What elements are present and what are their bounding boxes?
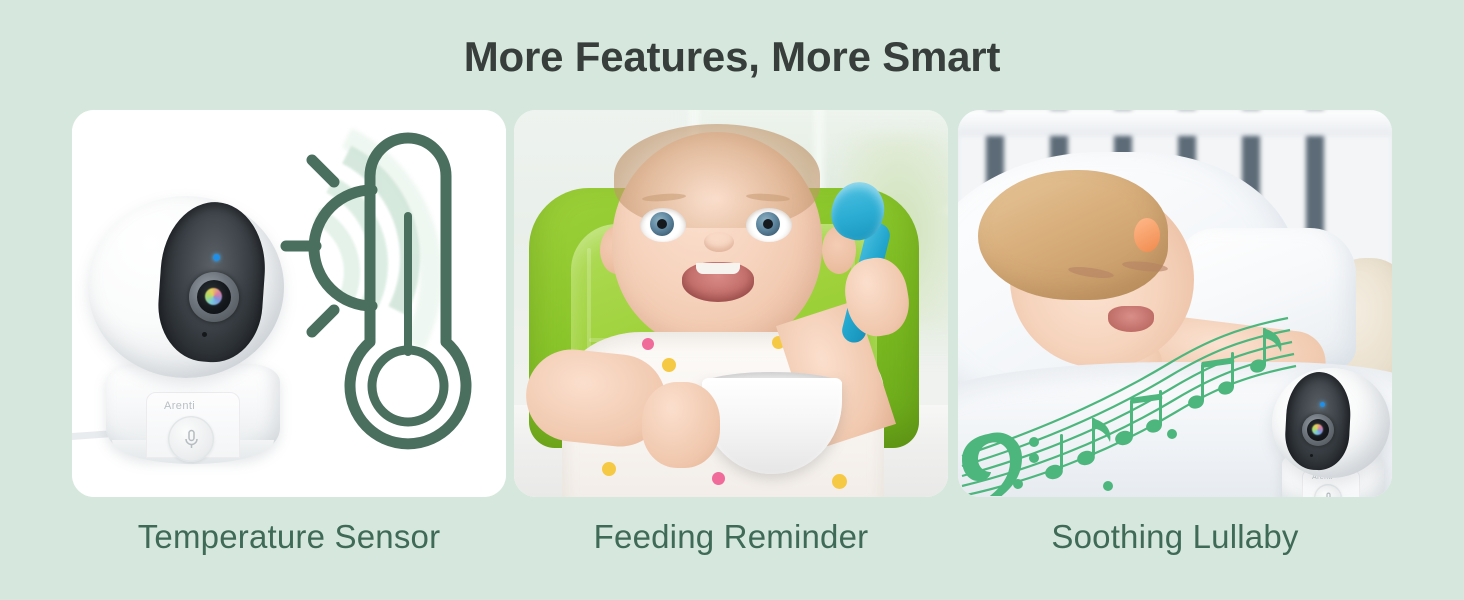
camera-lens-glint-icon [1312,424,1323,435]
feature-card-feeding-reminder[interactable] [514,110,948,497]
camera-mic-hole [202,332,207,337]
feature-card-list: Arenti [0,110,1464,500]
temperature-sensor-media: Arenti [72,110,506,497]
arenti-camera-device: Arenti [72,110,372,497]
crib-rail [958,110,1392,136]
camera-mic-hole [1310,454,1313,457]
arenti-camera-device: Arenti [1258,358,1392,497]
soothing-lullaby-media: Arenti [958,110,1392,497]
camera-lens-glint-icon [205,288,222,305]
microphone-icon [184,429,199,450]
status-led-icon [1320,402,1325,407]
power-cord [72,430,110,440]
feature-card-soothing-lullaby[interactable]: Arenti [958,110,1392,497]
card-caption-soothing-lullaby: Soothing Lullaby [958,518,1392,556]
microphone-icon [1324,492,1333,498]
feature-card-temperature-sensor[interactable]: Arenti [72,110,506,497]
page-title: More Features, More Smart [0,33,1464,81]
baby-pupil [763,219,773,229]
camera-mic-button[interactable] [168,416,214,462]
brand-label: Arenti [164,400,195,412]
feeding-reminder-media [514,110,948,497]
music-notes-icon [958,306,1298,496]
card-caption-feeding-reminder: Feeding Reminder [514,518,948,556]
feature-banner: More Features, More Smart [0,0,1464,600]
baby-nose [704,232,734,252]
status-led-icon [213,254,220,261]
card-caption-temperature-sensor: Temperature Sensor [72,518,506,556]
baby-pupil [657,219,667,229]
baby-hair [614,124,820,228]
baby-hand-holding-bowl [642,382,720,468]
ear [1134,218,1160,252]
baby-teeth [696,263,740,274]
